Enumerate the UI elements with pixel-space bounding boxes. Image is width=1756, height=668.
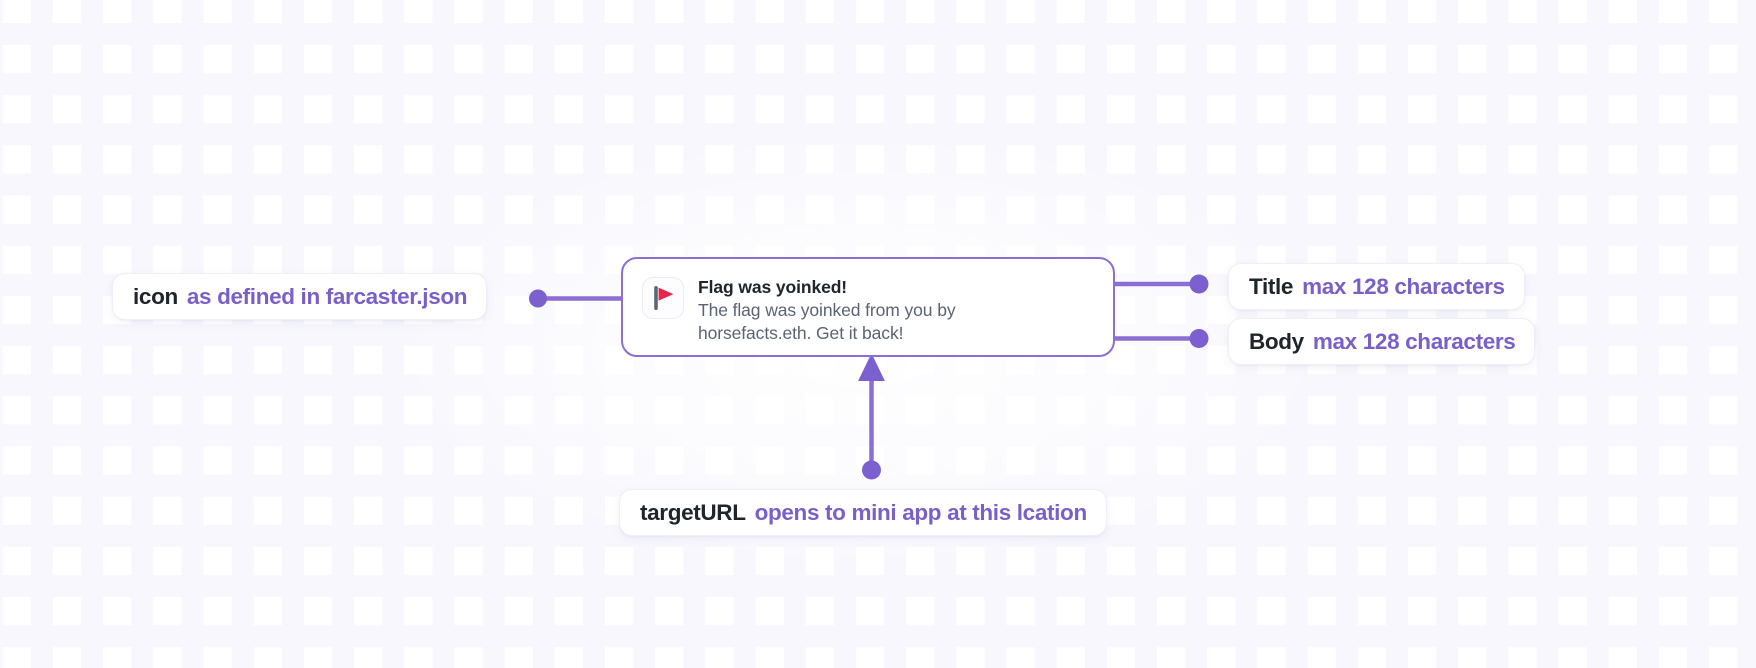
annotation-pill-title[interactable]: Title max 128 characters — [1228, 263, 1525, 310]
annotation-key-body: Body — [1249, 329, 1304, 355]
annotation-value-title: max 128 characters — [1302, 274, 1505, 300]
connector-icon — [529, 290, 633, 308]
app-icon-tile — [642, 277, 684, 319]
notification-card[interactable]: Flag was yoinked! The flag was yoinked f… — [621, 257, 1115, 357]
annotation-pill-body[interactable]: Body max 128 characters — [1228, 318, 1535, 365]
connector-targeturl — [862, 374, 881, 480]
annotation-value-targeturl: opens to mini app at this lcation — [755, 500, 1087, 526]
annotation-value-icon: as defined in farcaster.json — [187, 284, 467, 310]
annotation-pill-targeturl[interactable]: targetURL opens to mini app at this lcat… — [619, 489, 1107, 536]
annotation-key-title: Title — [1249, 274, 1293, 300]
notification-text-block: Flag was yoinked! The flag was yoinked f… — [698, 275, 988, 345]
notification-body: The flag was yoinked from you by horsefa… — [698, 299, 988, 345]
annotation-key-targeturl: targetURL — [640, 500, 746, 526]
notification-title: Flag was yoinked! — [698, 275, 988, 299]
red-flag-icon — [650, 284, 676, 312]
annotation-value-body: max 128 characters — [1313, 329, 1516, 355]
diagram-canvas: Flag was yoinked! The flag was yoinked f… — [0, 0, 1756, 668]
annotation-pill-icon[interactable]: icon as defined in farcaster.json — [112, 273, 487, 320]
annotation-key-icon: icon — [133, 284, 178, 310]
